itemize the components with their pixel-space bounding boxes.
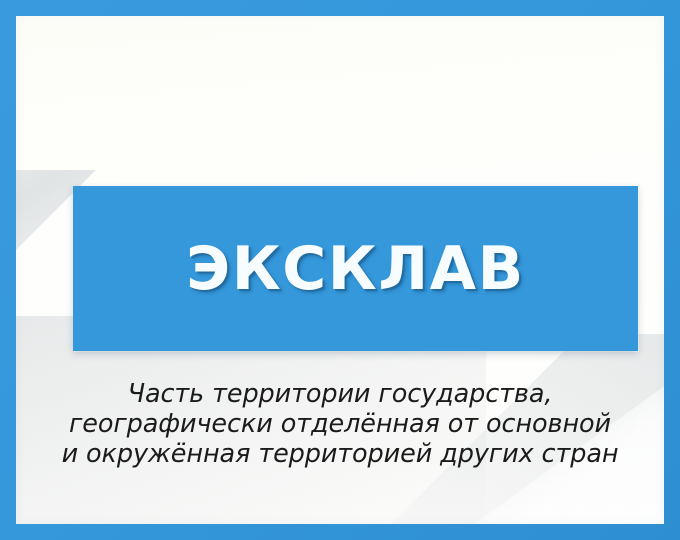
term-title: ЭКСКЛАВ <box>186 239 525 299</box>
term-card: ЭКСКЛАВ Часть территории государства, ге… <box>0 0 680 540</box>
definition-line-3: и окружённая территорией других стран <box>38 439 642 469</box>
title-banner: ЭКСКЛАВ <box>73 186 638 351</box>
card-canvas: ЭКСКЛАВ Часть территории государства, ге… <box>16 16 664 524</box>
term-definition: Часть территории государства, географиче… <box>38 379 642 469</box>
definition-line-2: географически отделённая от основной <box>38 409 642 439</box>
definition-line-1: Часть территории государства, <box>38 379 642 409</box>
